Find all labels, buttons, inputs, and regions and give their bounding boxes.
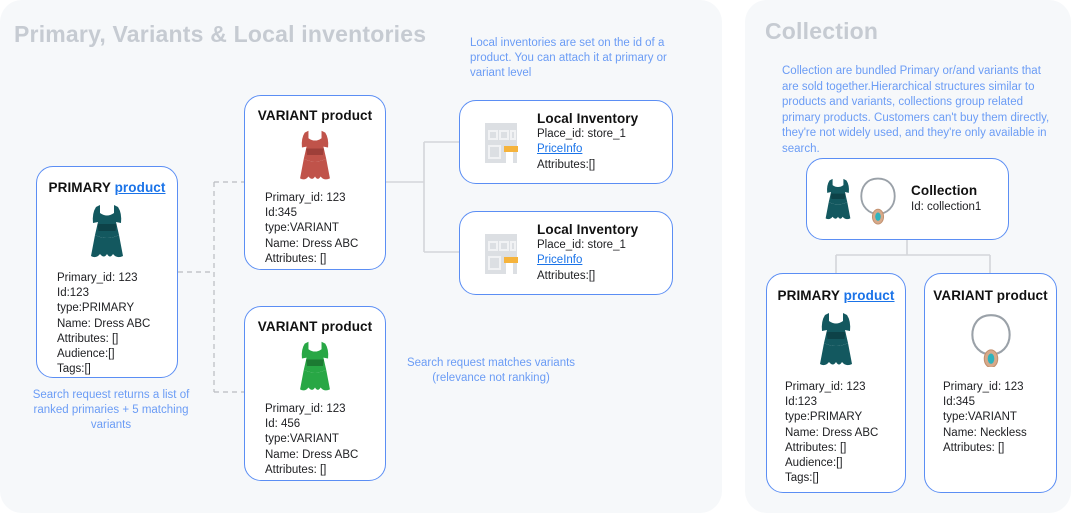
priceinfo-link[interactable]: PriceInfo <box>537 254 582 266</box>
field-name: Name: Neckless <box>943 426 1056 441</box>
card-primary-right-fields: Primary_id: 123 Id:123 type:PRIMARY Name… <box>785 380 905 486</box>
field-attributes: Attributes: [] <box>943 441 1056 456</box>
field-id: Id:123 <box>57 286 177 301</box>
field-name: Name: Dress ABC <box>265 237 385 252</box>
card-collection-fields: Id: collection1 <box>911 200 981 215</box>
card-variant-product-necklace[interactable]: VARIANT product Primary_id: 123 Id:345 t… <box>924 273 1057 493</box>
teal-dress-icon <box>37 201 177 263</box>
field-type: type:PRIMARY <box>785 410 905 425</box>
field-attributes: Attributes:[] <box>537 269 638 284</box>
teal-dress-icon <box>767 309 905 371</box>
field-type: type:VARIANT <box>265 432 385 447</box>
card-local-inventory-2[interactable]: Local Inventory Place_id: store_1 PriceI… <box>459 211 673 295</box>
card-collection-title: Collection <box>911 183 981 198</box>
field-type: type:VARIANT <box>943 410 1056 425</box>
field-id: Id:345 <box>265 206 385 221</box>
card-variant-product-green[interactable]: VARIANT product Primary_id: 123 Id: 456 … <box>244 306 386 481</box>
field-attributes: Attributes: [] <box>785 441 905 456</box>
field-attributes: Attributes: [] <box>57 332 177 347</box>
product-link[interactable]: product <box>115 180 166 195</box>
field-audience: Audience:[] <box>785 456 905 471</box>
field-place-id: Place_id: store_1 <box>537 127 638 142</box>
field-id: Id: 456 <box>265 417 385 432</box>
card-variant-red-fields: Primary_id: 123 Id:345 type:VARIANT Name… <box>265 191 385 267</box>
field-id: Id:345 <box>943 395 1056 410</box>
card-primary-fields: Primary_id: 123 Id:123 type:PRIMARY Name… <box>57 271 177 377</box>
field-type: type:PRIMARY <box>57 301 177 316</box>
card-variant-right-fields: Primary_id: 123 Id:345 type:VARIANT Name… <box>943 380 1056 456</box>
card-local-inventory-1-title: Local Inventory <box>537 111 638 126</box>
field-audience: Audience:[] <box>57 347 177 362</box>
card-local-inventory-1[interactable]: Local Inventory Place_id: store_1 PriceI… <box>459 100 673 184</box>
note-search-primary: Search request returns a list of ranked … <box>20 388 202 433</box>
card-primary-right-title-strong: PRIMARY <box>777 288 839 303</box>
card-local-inventory-1-body: Local Inventory Place_id: store_1 PriceI… <box>537 111 638 173</box>
green-dress-icon <box>245 338 385 396</box>
panel-left-title: Primary, Variants & Local inventories <box>14 21 426 48</box>
store-icon <box>477 115 525 170</box>
card-local-inventory-2-fields: Place_id: store_1 PriceInfo Attributes:[… <box>537 238 638 284</box>
field-name: Name: Dress ABC <box>57 317 177 332</box>
card-local-inventory-2-title: Local Inventory <box>537 222 638 237</box>
field-tags: Tags:[] <box>785 471 905 486</box>
card-variant-right-title: VARIANT product <box>925 288 1056 303</box>
field-type: type:VARIANT <box>265 221 385 236</box>
note-local-inventory: Local inventories are set on the id of a… <box>470 36 670 81</box>
field-attributes: Attributes: [] <box>265 463 385 478</box>
note-search-variants: Search request matches variants (relevan… <box>402 356 580 386</box>
card-variant-green-fields: Primary_id: 123 Id: 456 type:VARIANT Nam… <box>265 402 385 478</box>
card-primary-title: PRIMARY product <box>37 180 177 195</box>
card-primary-right-title: PRIMARY product <box>767 288 905 303</box>
field-name: Name: Dress ABC <box>785 426 905 441</box>
card-variant-green-title: VARIANT product <box>245 319 385 334</box>
field-attributes: Attributes: [] <box>265 252 385 267</box>
priceinfo-link[interactable]: PriceInfo <box>537 143 582 155</box>
field-name: Name: Dress ABC <box>265 448 385 463</box>
card-variant-red-title: VARIANT product <box>245 108 385 123</box>
dress-necklace-icon <box>821 173 899 225</box>
card-local-inventory-1-fields: Place_id: store_1 PriceInfo Attributes:[… <box>537 127 638 173</box>
card-collection-body: Collection Id: collection1 <box>911 183 981 215</box>
card-primary-title-strong: PRIMARY <box>48 180 110 195</box>
field-collection-id: Id: collection1 <box>911 200 981 215</box>
field-tags: Tags:[] <box>57 362 177 377</box>
necklace-icon <box>925 309 1056 371</box>
note-collection: Collection are bundled Primary or/and va… <box>782 64 1057 157</box>
field-primary-id: Primary_id: 123 <box>785 380 905 395</box>
field-primary-id: Primary_id: 123 <box>57 271 177 286</box>
field-primary-id: Primary_id: 123 <box>265 191 385 206</box>
card-variant-product-red[interactable]: VARIANT product Primary_id: 123 Id:345 t… <box>244 95 386 270</box>
card-collection[interactable]: Collection Id: collection1 <box>806 158 1009 240</box>
red-dress-icon <box>245 127 385 185</box>
card-primary-product-collection[interactable]: PRIMARY product Primary_id: 123 Id:123 t… <box>766 273 906 493</box>
card-local-inventory-2-body: Local Inventory Place_id: store_1 PriceI… <box>537 222 638 284</box>
field-attributes: Attributes:[] <box>537 158 638 173</box>
store-icon <box>477 226 525 281</box>
field-primary-id: Primary_id: 123 <box>943 380 1056 395</box>
product-link[interactable]: product <box>844 288 895 303</box>
field-id: Id:123 <box>785 395 905 410</box>
field-place-id: Place_id: store_1 <box>537 238 638 253</box>
field-primary-id: Primary_id: 123 <box>265 402 385 417</box>
card-primary-product[interactable]: PRIMARY product Primary_id: 123 Id:123 t… <box>36 166 178 378</box>
panel-right-title: Collection <box>765 18 878 45</box>
